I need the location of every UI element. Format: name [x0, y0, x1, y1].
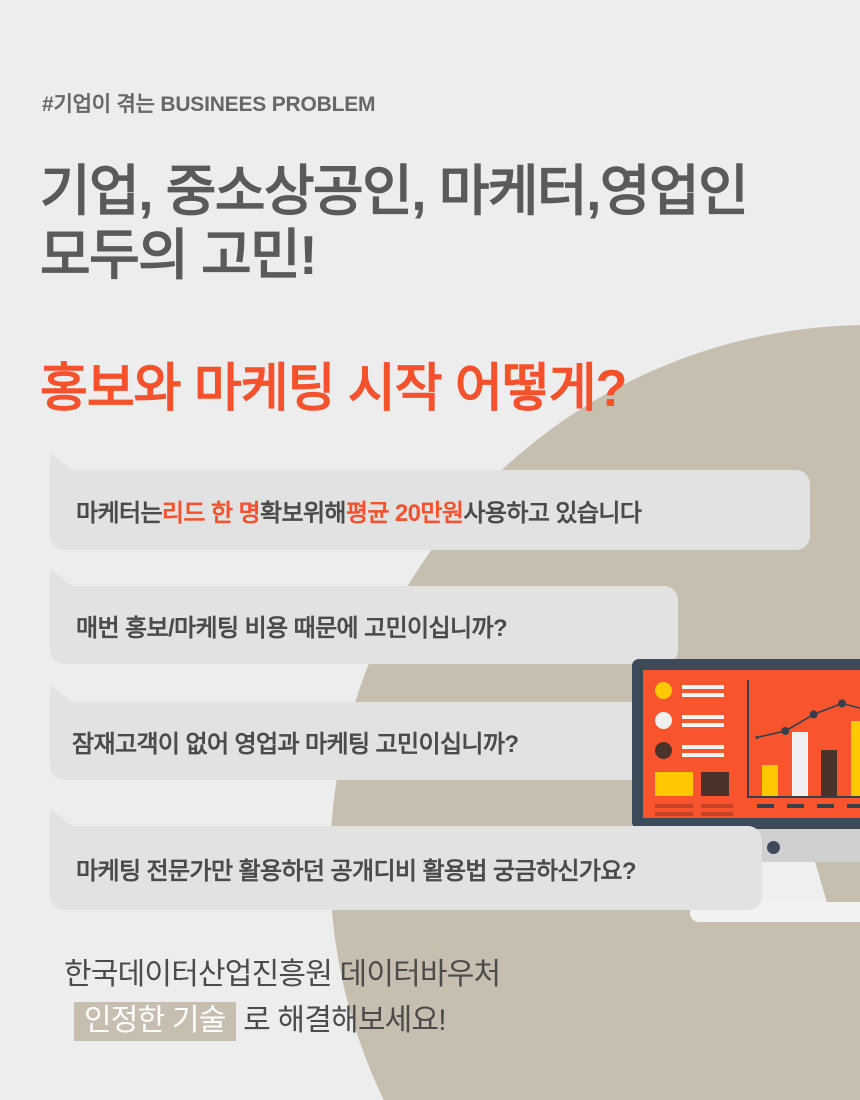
monitor-screen [643, 670, 860, 818]
monitor-power-dot-icon [767, 841, 780, 854]
swatch-dark [701, 772, 729, 796]
chart-trend-line [757, 703, 860, 737]
legend-lines [682, 745, 724, 757]
chart-line-marker [755, 736, 758, 739]
stripe-line [701, 812, 733, 816]
stripe-line [701, 804, 733, 808]
legend-line [682, 685, 724, 689]
legend-row [655, 712, 724, 729]
bubble-highlight-part: 리드 한 명 [162, 493, 260, 528]
chart-line-marker [781, 727, 789, 735]
legend-line [682, 723, 724, 727]
chart-line-marker [810, 710, 818, 718]
poster-canvas: #기업이 겪는 BUSINEES PROBLEM 기업, 중소상공인, 마케터,… [0, 0, 860, 1100]
footer-line-2: 인정한 기술 로 해결해보세요! [64, 998, 500, 1044]
speech-bubble-no-prospects: 잠재고객이 없어 영업과 마케팅 고민이십니까? [50, 702, 678, 780]
speech-bubble-public-db: 마케팅 전문가만 활용하던 공개디비 활용법 궁금하신가요? [50, 826, 762, 910]
bubble-text-part: 사용하고 있습니다 [463, 493, 641, 528]
bubble-text-part: 잠재고객이 없어 영업과 마케팅 고민이십니까? [72, 724, 518, 759]
page-title: 기업, 중소상공인, 마케터,영업인 모두의 고민! [40, 160, 747, 288]
bubble-text-part: 마케팅 전문가만 활용하던 공개디비 활용법 궁금하신가요? [76, 851, 636, 886]
legend-lines [682, 685, 724, 697]
baseline-dash [787, 804, 804, 808]
subheadline: 홍보와 마케팅 시작 어떻게? [40, 346, 626, 421]
bubble-text-part: 확보위해 [260, 493, 346, 528]
stripe-line [655, 812, 693, 816]
legend-dot-icon [655, 712, 672, 729]
bubble-text-part: 매번 홍보/마케팅 비용 때문에 고민이십니까? [76, 608, 507, 643]
stripe-line [655, 804, 693, 808]
legend-line [682, 745, 724, 749]
bubble-text-part: 마케터는 [76, 493, 162, 528]
monitor-body [632, 659, 860, 829]
footer-line-2-suffix: 로 해결해보세요! [236, 1004, 446, 1037]
legend-lines [682, 715, 724, 727]
footer-line-1: 한국데이터산업진흥원 데이터바우처 [64, 952, 500, 998]
bubble-highlight-part: 평균 20만원 [346, 493, 463, 528]
legend-line [682, 753, 724, 757]
chart-line-layer [747, 680, 860, 798]
legend-dot-icon [655, 682, 672, 699]
chart-line-marker [838, 699, 846, 707]
chart-dashed-baseline [747, 800, 860, 808]
certified-tech-chip: 인정한 기술 [74, 1002, 236, 1041]
legend-dot-icon [655, 742, 672, 759]
baseline-dash [757, 804, 774, 808]
stripe-column [701, 804, 733, 818]
stripe-column [655, 804, 693, 818]
dashboard-chart [747, 680, 860, 808]
footer-block: 한국데이터산업진흥원 데이터바우처 인정한 기술 로 해결해보세요! [64, 952, 500, 1043]
legend-line [682, 693, 724, 697]
speech-bubble-marketing-cost: 매번 홍보/마케팅 비용 때문에 고민이십니까? [50, 586, 678, 664]
legend-row [655, 682, 724, 699]
legend-row [655, 742, 724, 759]
legend-line [682, 715, 724, 719]
kicker-text: #기업이 겪는 BUSINEES PROBLEM [42, 88, 375, 118]
baseline-dash [817, 804, 834, 808]
baseline-dash [847, 804, 860, 808]
speech-bubble-lead-cost: 마케터는 리드 한 명 확보위해 평균 20만원 사용하고 있습니다 [50, 470, 810, 550]
swatch-yellow [655, 772, 693, 796]
